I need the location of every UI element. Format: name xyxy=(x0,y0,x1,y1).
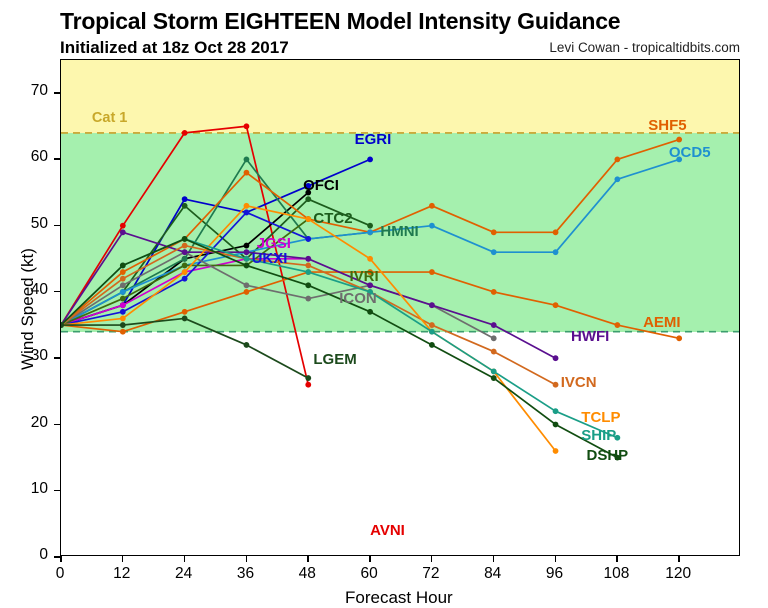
series-label-ofci: OFCI xyxy=(303,177,339,194)
y-tick-label: 70 xyxy=(8,82,48,100)
y-axis-label: Wind Speed (kt) xyxy=(18,248,38,370)
x-axis-label: Forecast Hour xyxy=(345,588,453,608)
y-tick-label: 50 xyxy=(8,215,48,233)
x-tick-mark xyxy=(60,556,62,562)
x-tick-label: 72 xyxy=(406,565,456,583)
series-label-tclp: TCLP xyxy=(581,409,620,426)
x-tick-label: 48 xyxy=(282,565,332,583)
series-label-hmni: HMNI xyxy=(380,223,418,240)
page-title: Tropical Storm EIGHTEEN Model Intensity … xyxy=(60,8,620,35)
series-label-aemi: AEMI xyxy=(643,314,681,331)
x-tick-label: 24 xyxy=(159,565,209,583)
series-label-ivcn: IVCN xyxy=(561,374,597,391)
y-tick-mark xyxy=(54,291,60,293)
series-label-icon: ICON xyxy=(339,290,377,307)
credit-text: Levi Cowan - tropicaltidbits.com xyxy=(549,40,740,55)
series-label-avni: AVNI xyxy=(370,522,405,539)
x-tick-label: 120 xyxy=(653,565,703,583)
x-tick-mark xyxy=(493,556,495,562)
x-tick-mark xyxy=(369,556,371,562)
x-tick-label: 108 xyxy=(591,565,641,583)
y-tick-label: 10 xyxy=(8,480,48,498)
series-label-shf5: SHF5 xyxy=(648,117,686,134)
x-tick-label: 12 xyxy=(97,565,147,583)
series-label-ivri: IVRI xyxy=(350,268,379,285)
page-subtitle: Initialized at 18z Oct 28 2017 xyxy=(60,38,289,58)
x-tick-label: 60 xyxy=(344,565,394,583)
series-label-lgem: LGEM xyxy=(313,351,356,368)
y-tick-mark xyxy=(54,490,60,492)
x-tick-mark xyxy=(678,556,680,562)
series-label-egri: EGRI xyxy=(355,131,392,148)
series-label-dshp: DSHP xyxy=(587,447,629,464)
chart-root: Tropical Storm EIGHTEEN Model Intensity … xyxy=(0,0,768,600)
x-tick-mark xyxy=(307,556,309,562)
x-tick-mark xyxy=(122,556,124,562)
y-tick-mark xyxy=(54,357,60,359)
x-tick-label: 84 xyxy=(468,565,518,583)
y-tick-label: 60 xyxy=(8,148,48,166)
y-tick-mark xyxy=(54,424,60,426)
y-tick-mark xyxy=(54,158,60,160)
plot-area: Cat 1 AVNIEGRIOFCICTC2HMNISHF5OCD5JGSIUK… xyxy=(60,59,740,556)
y-tick-mark xyxy=(54,92,60,94)
x-tick-label: 36 xyxy=(221,565,271,583)
series-label-ship: SHIP xyxy=(581,427,616,444)
x-tick-mark xyxy=(555,556,557,562)
series-lines xyxy=(61,60,740,556)
y-tick-label: 20 xyxy=(8,414,48,432)
x-tick-mark xyxy=(616,556,618,562)
x-tick-mark xyxy=(184,556,186,562)
series-label-ctc2: CTC2 xyxy=(313,210,352,227)
x-tick-mark xyxy=(246,556,248,562)
x-tick-label: 0 xyxy=(35,565,85,583)
y-tick-mark xyxy=(54,225,60,227)
x-tick-label: 96 xyxy=(530,565,580,583)
x-tick-mark xyxy=(431,556,433,562)
series-label-ukxi: UKXI xyxy=(252,250,288,267)
series-label-ocd5: OCD5 xyxy=(669,144,711,161)
y-tick-label: 0 xyxy=(8,546,48,564)
series-label-hwfi: HWFI xyxy=(571,328,609,345)
